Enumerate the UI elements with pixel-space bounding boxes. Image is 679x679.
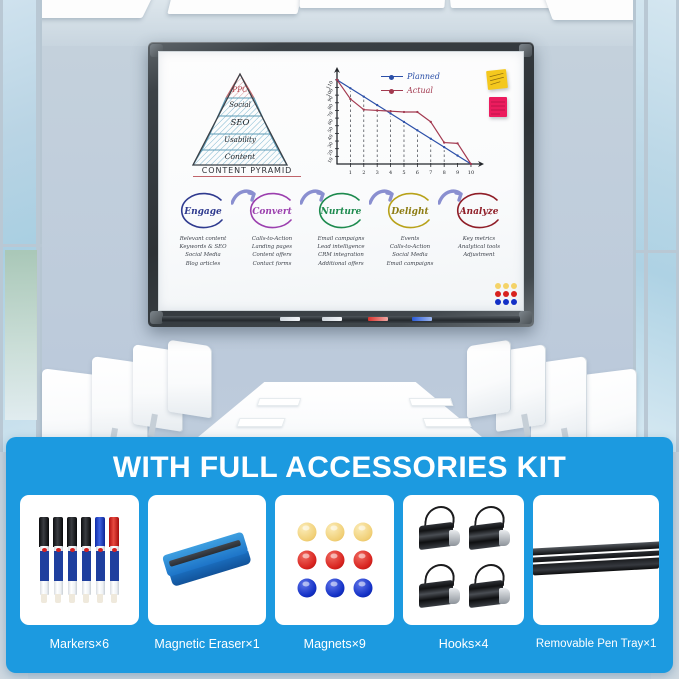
- magnet-yellow: [353, 523, 372, 542]
- stage-name: Engage: [177, 192, 229, 232]
- svg-text:2: 2: [362, 170, 365, 176]
- card-label-eraser: Magnetic Eraser×1: [148, 631, 267, 657]
- yellow-sticky-note: [486, 69, 508, 90]
- pink-sticky-note: [489, 97, 507, 117]
- whiteboard: PPC Social SEO Usability Content CONTENT…: [148, 42, 534, 327]
- svg-text:10: 10: [468, 170, 474, 176]
- magnet-red: [297, 551, 316, 570]
- stage-items: Events Calls-to-Action Social Media Emai…: [376, 235, 444, 268]
- table-document: [422, 418, 471, 427]
- magnet-blue: [353, 579, 372, 598]
- funnel-stage-delight: Delight Events Calls-to-Action Social Me…: [376, 192, 444, 268]
- legend-swatch: [381, 90, 403, 91]
- marker-pen: [109, 517, 119, 603]
- svg-text:3: 3: [376, 170, 379, 176]
- stage-name: Convert: [246, 192, 298, 232]
- tray-marker: [322, 317, 342, 321]
- stage-name: Analyze: [453, 192, 505, 232]
- accessories-banner: WITH FULL ACCESSORIES KIT: [6, 437, 673, 673]
- content-pyramid-drawing: PPC Social SEO Usability Content CONTENT…: [181, 70, 299, 182]
- card-label-hooks: Hooks×4: [403, 631, 524, 657]
- window-right: [633, 0, 679, 452]
- svg-text:110: 110: [325, 80, 334, 91]
- magnet-red: [325, 551, 344, 570]
- svg-text:20: 20: [327, 149, 335, 157]
- magnetic-hook: [467, 506, 511, 556]
- tray-marker: [368, 317, 388, 321]
- burndown-chart: 10203040506070809010011012345678910 Plan…: [311, 64, 501, 182]
- stage-ring: Nurture: [315, 192, 367, 232]
- legend-label: Planned: [407, 72, 440, 81]
- marker-pen: [39, 517, 49, 603]
- marker-pen: [53, 517, 63, 603]
- accessory-card-labels: Markers×6 Magnetic Eraser×1 Magnets×9 Ho…: [20, 631, 659, 657]
- stage-items: Calls-to-Action Landing pages Content of…: [238, 235, 306, 268]
- marker-pens-icon: [39, 517, 119, 603]
- marker-pen: [95, 517, 105, 603]
- svg-text:1: 1: [349, 170, 352, 176]
- magnet-yellow: [325, 523, 344, 542]
- table-document: [236, 418, 285, 427]
- accessory-cards: [20, 495, 659, 625]
- legend-item-planned: Planned: [381, 72, 467, 81]
- stage-ring: Analyze: [453, 192, 505, 232]
- magnetic-eraser-icon: [162, 531, 252, 588]
- frame-corner: [519, 311, 532, 324]
- pyramid-svg: [181, 70, 299, 170]
- svg-text:50: 50: [327, 126, 335, 134]
- svg-text:60: 60: [327, 118, 335, 126]
- svg-text:30: 30: [327, 141, 335, 149]
- accessory-card-magnets[interactable]: [275, 495, 394, 625]
- stage-name: Delight: [384, 192, 436, 232]
- magnet-blue: [297, 579, 316, 598]
- magnet-blue: [325, 579, 344, 598]
- stage-ring: Convert: [246, 192, 298, 232]
- marker-pen: [67, 517, 77, 603]
- svg-text:8: 8: [443, 170, 446, 176]
- accessory-card-pen-tray[interactable]: [533, 495, 659, 625]
- ceiling-panel: [167, 0, 302, 14]
- magnetic-hook: [467, 564, 511, 614]
- card-label-pen-tray: Removable Pen Tray×1: [533, 631, 659, 657]
- funnel-stage-analyze: Analyze Key metrics Analytical tools Adj…: [445, 192, 513, 260]
- window-left: [0, 0, 42, 452]
- svg-text:7: 7: [429, 170, 432, 176]
- svg-text:80: 80: [327, 103, 335, 111]
- svg-text:4: 4: [389, 170, 392, 176]
- svg-text:9: 9: [456, 170, 459, 176]
- conference-chair: [168, 340, 212, 419]
- funnel-stage-convert: Convert Calls-to-Action Landing pages Co…: [238, 192, 306, 268]
- stage-ring: Delight: [384, 192, 436, 232]
- whiteboard-surface: PPC Social SEO Usability Content CONTENT…: [158, 51, 524, 311]
- pyramid-title: CONTENT PYRAMID: [193, 166, 301, 177]
- stage-items: Email campaigns Lead intelligence CRM in…: [307, 235, 375, 268]
- svg-text:6: 6: [416, 170, 419, 176]
- marketing-funnel-diagram: Engage Relevant content Keywords & SEO S…: [169, 192, 515, 304]
- card-label-markers: Markers×6: [20, 631, 139, 657]
- accessory-card-hooks[interactable]: [403, 495, 524, 625]
- stage-ring: Engage: [177, 192, 229, 232]
- magnetic-hooks-icon: [417, 506, 511, 614]
- conference-chair: [467, 340, 511, 419]
- svg-text:70: 70: [327, 111, 335, 119]
- magnet-red: [353, 551, 372, 570]
- tray-marker: [280, 317, 300, 321]
- stage-items: Key metrics Analytical tools Adjustment: [445, 235, 513, 260]
- magnet-yellow: [297, 523, 316, 542]
- magnetic-hook: [417, 506, 461, 556]
- magnetic-hook: [417, 564, 461, 614]
- accessory-card-eraser[interactable]: [148, 495, 267, 625]
- whiteboard-pen-tray: [162, 316, 520, 323]
- banner-title: WITH FULL ACCESSORIES KIT: [6, 451, 673, 485]
- card-label-magnets: Magnets×9: [275, 631, 394, 657]
- marker-pen: [81, 517, 91, 603]
- table-document: [409, 398, 454, 406]
- stage-name: Nurture: [315, 192, 367, 232]
- tray-marker: [412, 317, 432, 321]
- chart-legend: Planned Actual: [381, 72, 467, 100]
- stage-items: Relevant content Keywords & SEO Social M…: [169, 235, 237, 268]
- legend-item-actual: Actual: [381, 86, 467, 95]
- accessory-card-markers[interactable]: [20, 495, 139, 625]
- ceiling-panel: [299, 0, 445, 8]
- product-image: PPC Social SEO Usability Content CONTENT…: [0, 0, 679, 679]
- table-document: [257, 398, 302, 406]
- funnel-stage-engage: Engage Relevant content Keywords & SEO S…: [169, 192, 237, 268]
- svg-text:40: 40: [327, 133, 335, 141]
- legend-label: Actual: [407, 86, 433, 95]
- round-magnets-icon: [297, 523, 372, 598]
- svg-text:10: 10: [327, 156, 335, 164]
- funnel-stage-nurture: Nurture Email campaigns Lead intelligenc…: [307, 192, 375, 268]
- pen-tray-icon: [533, 537, 659, 583]
- svg-text:5: 5: [402, 170, 405, 176]
- legend-swatch: [381, 76, 403, 77]
